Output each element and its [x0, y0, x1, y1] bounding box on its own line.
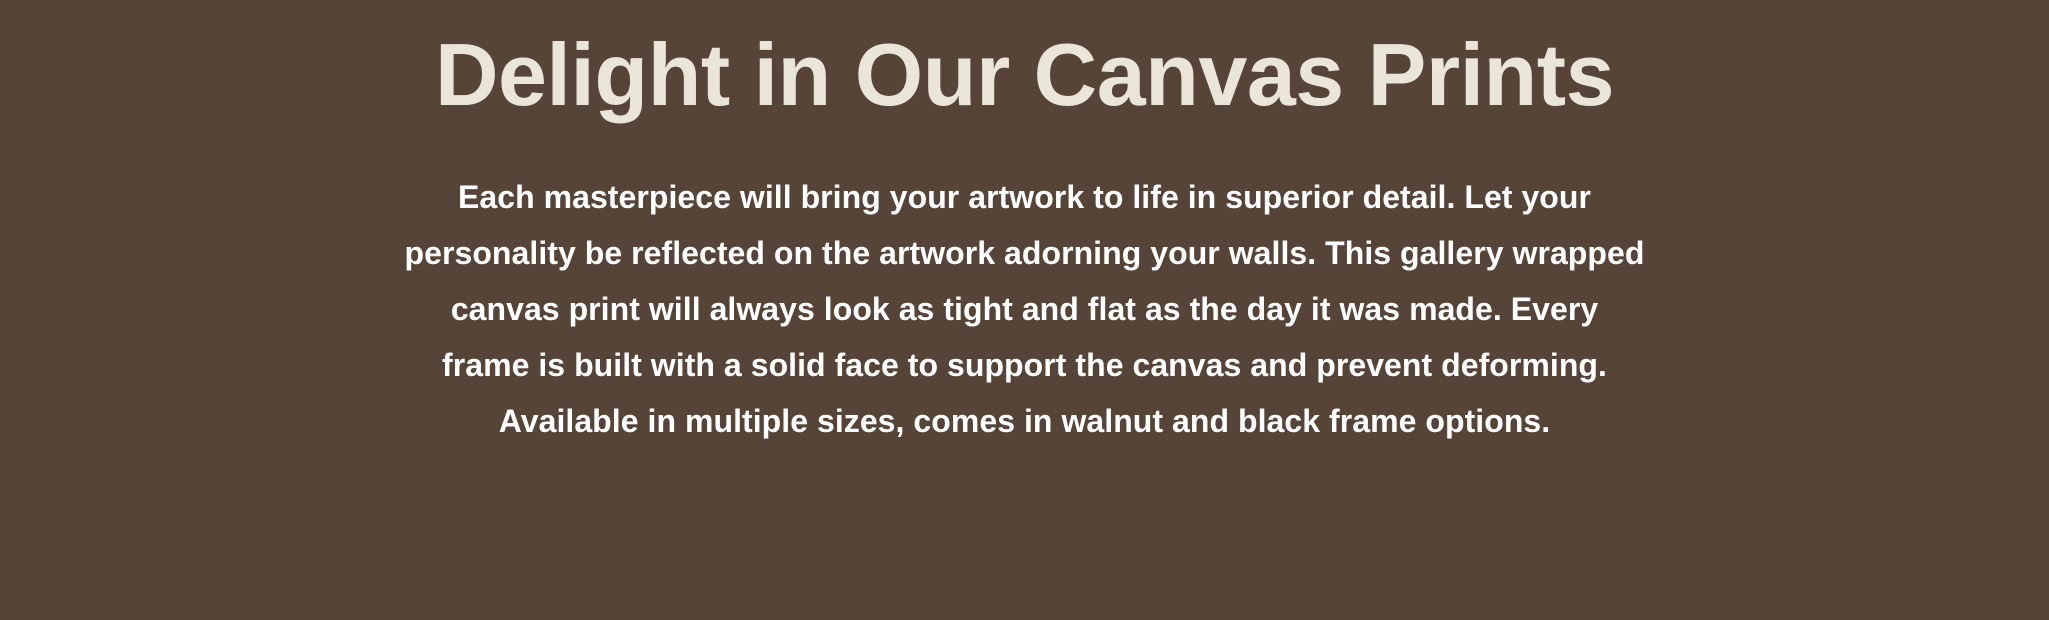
page-title: Delight in Our Canvas Prints [435, 26, 1614, 125]
banner-description: Each masterpiece will bring your artwork… [405, 169, 1645, 449]
canvas-prints-promo-banner: Delight in Our Canvas Prints Each master… [0, 0, 2049, 620]
